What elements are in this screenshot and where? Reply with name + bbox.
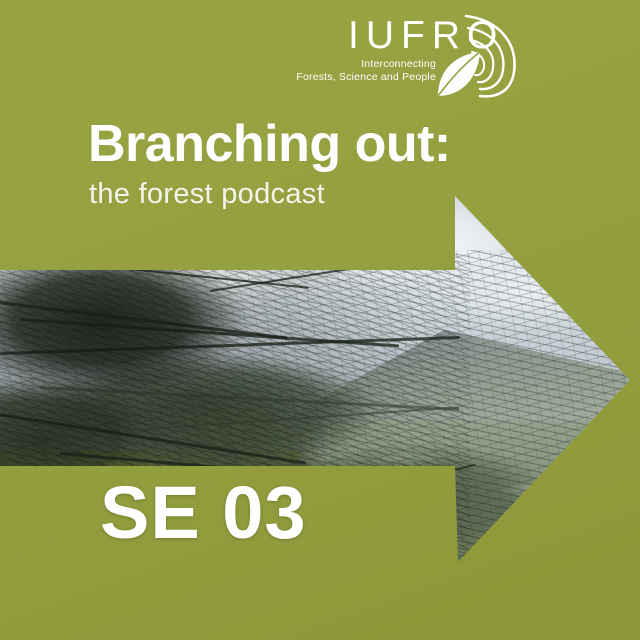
logo-tagline: Interconnecting Forests, Science and Peo… [296, 58, 436, 84]
logo-tagline-line1: Interconnecting [296, 58, 436, 71]
page-title: Branching out: [88, 118, 451, 170]
podcast-cover-art: IUFRO Interconnecting Forests, Science a… [0, 0, 640, 640]
page-subtitle: the forest podcast [89, 180, 325, 209]
iufro-logo: IUFRO Interconnecting Forests, Science a… [296, 10, 526, 100]
logo-tagline-line2: Forests, Science and People [296, 71, 436, 84]
season-badge: SE 03 [100, 476, 307, 550]
leaf-and-arcs-icon [428, 10, 526, 100]
